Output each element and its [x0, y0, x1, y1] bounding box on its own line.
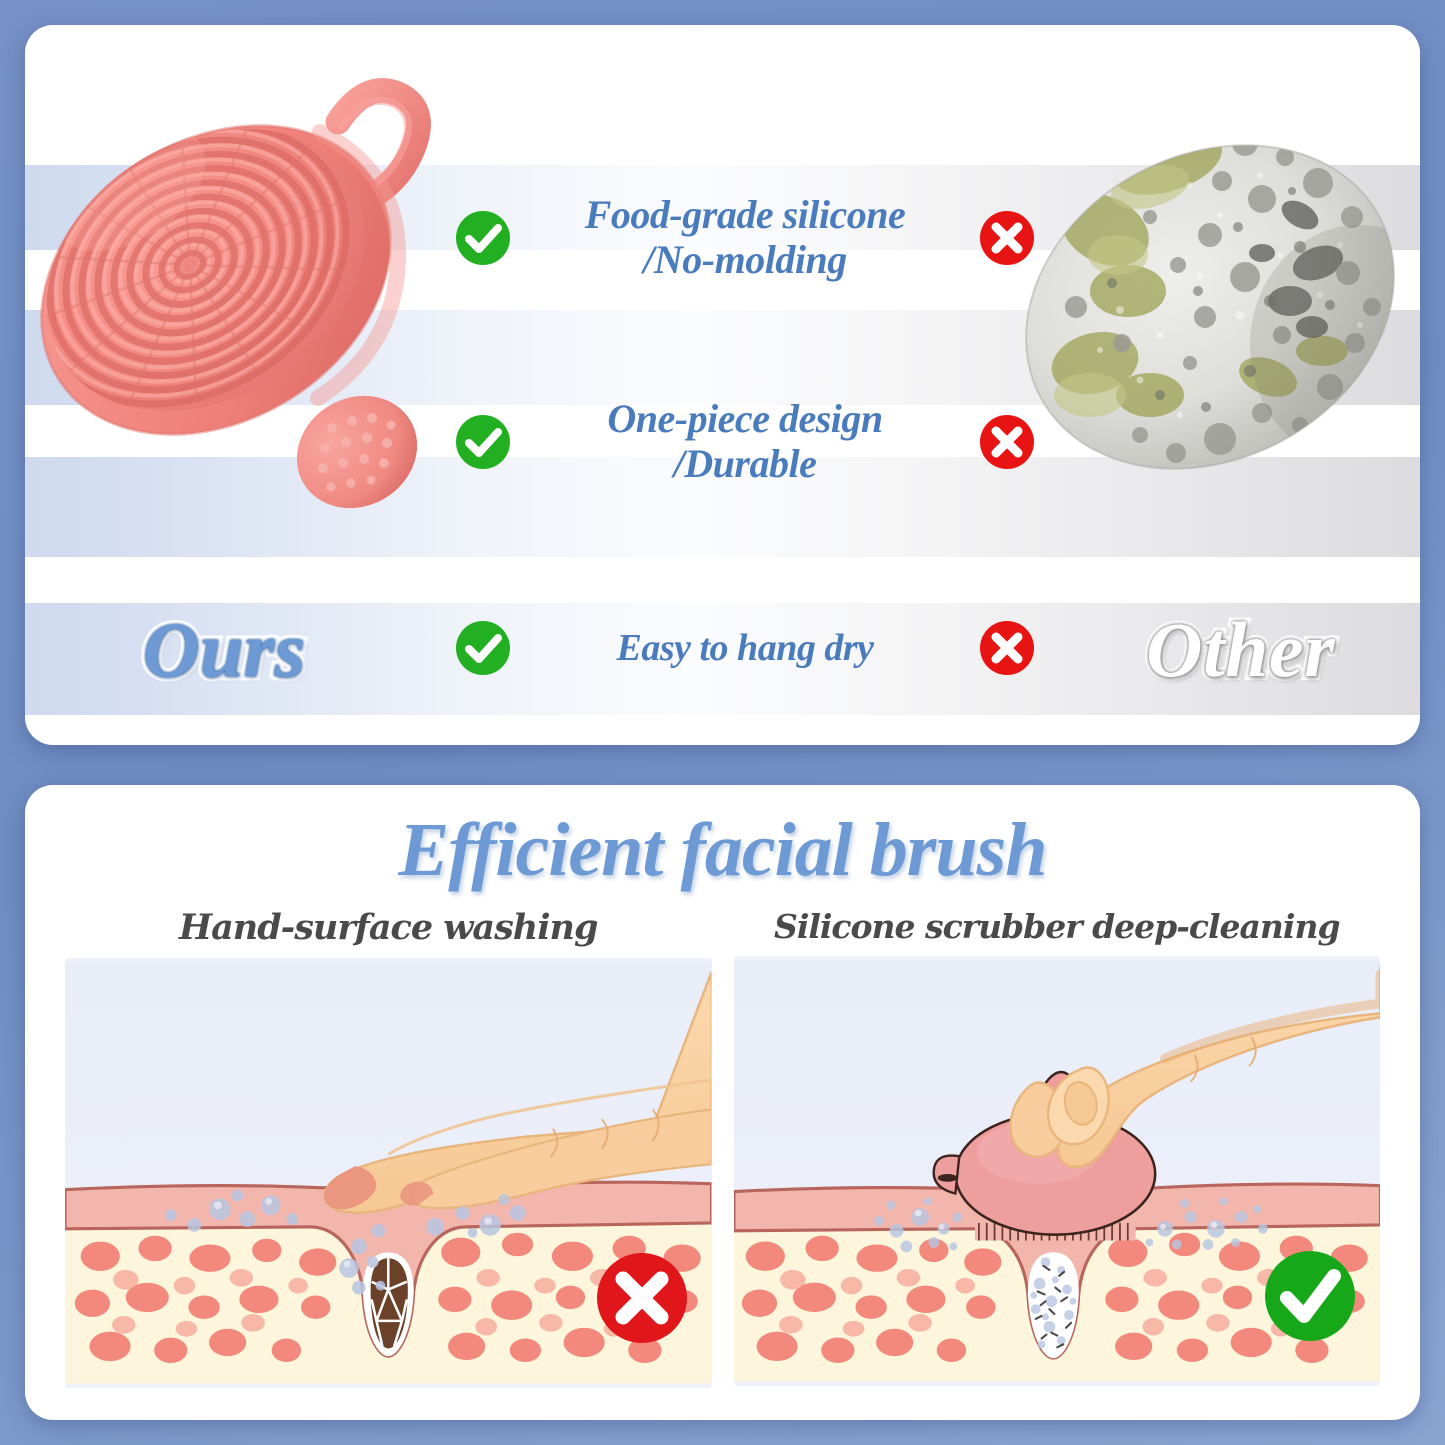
efficient-section-title: Efficient facial brush [25, 807, 1420, 894]
comparison-card: Food-grade silicone /No-molding One-piec… [25, 25, 1420, 745]
feature-label-1: Food-grade silicone /No-molding [529, 193, 961, 283]
feature-label-3: Easy to hang dry [529, 627, 961, 670]
illustration-finger-washing [65, 958, 712, 1388]
illustration-silicone-deep-clean [734, 956, 1381, 1386]
green-check-icon [455, 620, 511, 676]
green-check-icon [455, 414, 511, 470]
panel-hand-surface-washing: Hand-surface washing [65, 907, 712, 1388]
feature-row-3: Easy to hang dry [455, 620, 1035, 676]
ours-label: Ours [143, 611, 305, 689]
red-cross-icon [979, 210, 1035, 266]
panel-caption-left: Hand-surface washing [65, 907, 712, 948]
green-check-icon [455, 210, 511, 266]
red-cross-icon [979, 414, 1035, 470]
comparison-panels: Hand-surface washing [65, 907, 1380, 1388]
feature-row-2: One-piece design /Durable [455, 397, 1035, 487]
panel-caption-right: Silicone scrubber deep-cleaning [734, 907, 1381, 946]
panel-silicone-deep-cleaning: Silicone scrubber deep-cleaning [734, 907, 1381, 1388]
other-label: Other [1146, 611, 1335, 689]
green-check-icon [1264, 1250, 1356, 1342]
poster-background: Food-grade silicone /No-molding One-piec… [0, 0, 1445, 1445]
feature-label-2: One-piece design /Durable [529, 397, 961, 487]
efficient-facial-brush-card: Efficient facial brush Hand-surface wash… [25, 785, 1420, 1420]
red-cross-icon [596, 1252, 688, 1344]
feature-row-1: Food-grade silicone /No-molding [455, 193, 1035, 283]
other-product-image-moldy-sponge [1000, 95, 1420, 525]
ours-product-image-silicone-brush [25, 40, 450, 520]
red-cross-icon [979, 620, 1035, 676]
